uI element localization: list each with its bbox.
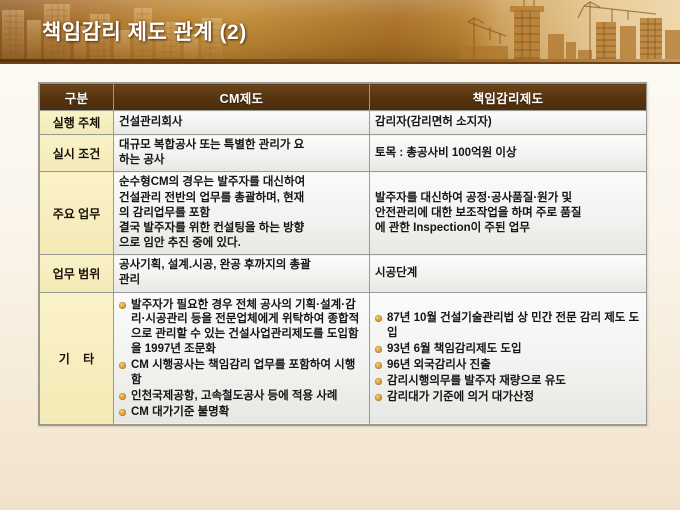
cell-line: 시공단계 xyxy=(375,266,641,281)
cell-line: 공사기획, 설계.시공, 완공 후까지의 총괄 xyxy=(119,258,364,273)
bullet-text: 발주자가 필요한 경우 전체 공사의 기획·설계·감리·시공관리 등을 전문업체… xyxy=(131,298,364,358)
list-item: 발주자가 필요한 경우 전체 공사의 기획·설계·감리·시공관리 등을 전문업체… xyxy=(119,298,364,358)
row-label-other: 기 타 xyxy=(40,292,114,425)
cell-line: 대규모 복합공사 또는 특별한 관리가 요 xyxy=(119,138,364,153)
cell-sup-main-duties: 발주자를 대신하여 공정·공사품질·원가 및 안전관리에 대한 보조작업을 하며… xyxy=(370,172,647,255)
row-label-execution-body: 실행 주체 xyxy=(40,111,114,135)
cell-cm-execution-body: 건설관리회사 xyxy=(114,111,370,135)
bullet-text: 감리시행의무를 발주자 재량으로 유도 xyxy=(387,374,641,389)
cell-line: 으로 임안 추진 중에 있다. xyxy=(119,236,364,251)
cell-line: 토목 : 총공사비 100억원 이상 xyxy=(375,146,641,161)
cell-line: 하는 공사 xyxy=(119,153,364,168)
comparison-table-wrapper: 구분 CM제도 책임감리제도 실행 주체 건설관리회사 감리자(감리면허 소지자… xyxy=(38,82,647,426)
cell-line: 건설관리회사 xyxy=(119,115,364,130)
cell-line: 건설관리 전반의 업무를 총괄하며, 현재 xyxy=(119,191,364,206)
bullet-text: CM 대가기준 불명확 xyxy=(131,405,364,420)
list-item: 인천국제공항, 고속철도공사 등에 적용 사례 xyxy=(119,389,364,404)
bullet-text: 인천국제공항, 고속철도공사 등에 적용 사례 xyxy=(131,389,364,404)
page-title: 책임감리 제도 관계 (2) xyxy=(42,16,247,46)
table-row: 주요 업무 순수형CM의 경우는 발주자를 대신하여 건설관리 전반의 업무를 … xyxy=(40,172,647,255)
table-row: 기 타 발주자가 필요한 경우 전체 공사의 기획·설계·감리·시공관리 등을 … xyxy=(40,292,647,425)
comparison-table: 구분 CM제도 책임감리제도 실행 주체 건설관리회사 감리자(감리면허 소지자… xyxy=(39,83,647,425)
row-label-implementation-condition: 실시 조건 xyxy=(40,135,114,172)
cell-line: 순수형CM의 경우는 발주자를 대신하여 xyxy=(119,175,364,190)
cell-cm-main-duties: 순수형CM의 경우는 발주자를 대신하여 건설관리 전반의 업무를 총괄하며, … xyxy=(114,172,370,255)
cell-line: 안전관리에 대한 보조작업을 하며 주로 품질 xyxy=(375,206,641,221)
cell-sup-execution-body: 감리자(감리면허 소지자) xyxy=(370,111,647,135)
cell-sup-implementation-condition: 토목 : 총공사비 100억원 이상 xyxy=(370,135,647,172)
list-item: 93년 6월 책임감리제도 도입 xyxy=(375,342,641,357)
list-item: 감리시행의무를 발주자 재량으로 유도 xyxy=(375,374,641,389)
bullet-text: 93년 6월 책임감리제도 도입 xyxy=(387,342,641,357)
cell-line: 관리 xyxy=(119,273,364,288)
list-item: CM 시행공사는 책임감리 업무를 포함하여 시행함 xyxy=(119,358,364,388)
bullet-text: 87년 10월 건설기술관리법 상 민간 전문 감리 제도 도입 xyxy=(387,311,641,341)
table-row: 실시 조건 대규모 복합공사 또는 특별한 관리가 요 하는 공사 토목 : 총… xyxy=(40,135,647,172)
cell-cm-other: 발주자가 필요한 경우 전체 공사의 기획·설계·감리·시공관리 등을 전문업체… xyxy=(114,292,370,425)
cell-line: 에 관한 Inspection이 주된 업무 xyxy=(375,221,641,236)
cell-cm-work-scope: 공사기획, 설계.시공, 완공 후까지의 총괄 관리 xyxy=(114,255,370,292)
bullet-list-sup-other: 87년 10월 건설기술관리법 상 민간 전문 감리 제도 도입 93년 6월 … xyxy=(375,311,641,405)
row-label-main-duties: 주요 업무 xyxy=(40,172,114,255)
cell-cm-implementation-condition: 대규모 복합공사 또는 특별한 관리가 요 하는 공사 xyxy=(114,135,370,172)
table-header-supervision-system: 책임감리제도 xyxy=(370,84,647,111)
bullet-list-cm-other: 발주자가 필요한 경우 전체 공사의 기획·설계·감리·시공관리 등을 전문업체… xyxy=(119,298,364,421)
bullet-text: 감리대가 기준에 의거 대가산정 xyxy=(387,390,641,405)
banner-underline xyxy=(0,59,680,62)
title-banner: 책임감리 제도 관계 (2) xyxy=(0,0,680,64)
table-row: 실행 주체 건설관리회사 감리자(감리면허 소지자) xyxy=(40,111,647,135)
cell-line: 감리자(감리면허 소지자) xyxy=(375,115,641,130)
construction-site-graphic xyxy=(460,0,680,62)
row-label-work-scope: 업무 범위 xyxy=(40,255,114,292)
cell-line: 발주자를 대신하여 공정·공사품질·원가 및 xyxy=(375,191,641,206)
bullet-text: CM 시행공사는 책임감리 업무를 포함하여 시행함 xyxy=(131,358,364,388)
list-item: 감리대가 기준에 의거 대가산정 xyxy=(375,390,641,405)
cell-sup-other: 87년 10월 건설기술관리법 상 민간 전문 감리 제도 도입 93년 6월 … xyxy=(370,292,647,425)
cell-line: 의 감리업무를 포함 xyxy=(119,206,364,221)
list-item: CM 대가기준 불명확 xyxy=(119,405,364,420)
list-item: 87년 10월 건설기술관리법 상 민간 전문 감리 제도 도입 xyxy=(375,311,641,341)
bullet-text: 96년 외국감리사 진출 xyxy=(387,358,641,373)
table-header-cm-system: CM제도 xyxy=(114,84,370,111)
table-row: 업무 범위 공사기획, 설계.시공, 완공 후까지의 총괄 관리 시공단계 xyxy=(40,255,647,292)
table-header-row: 구분 CM제도 책임감리제도 xyxy=(40,84,647,111)
list-item: 96년 외국감리사 진출 xyxy=(375,358,641,373)
cell-sup-work-scope: 시공단계 xyxy=(370,255,647,292)
cell-line: 결국 발주자를 위한 컨설팅을 하는 방향 xyxy=(119,221,364,236)
table-header-category: 구분 xyxy=(40,84,114,111)
